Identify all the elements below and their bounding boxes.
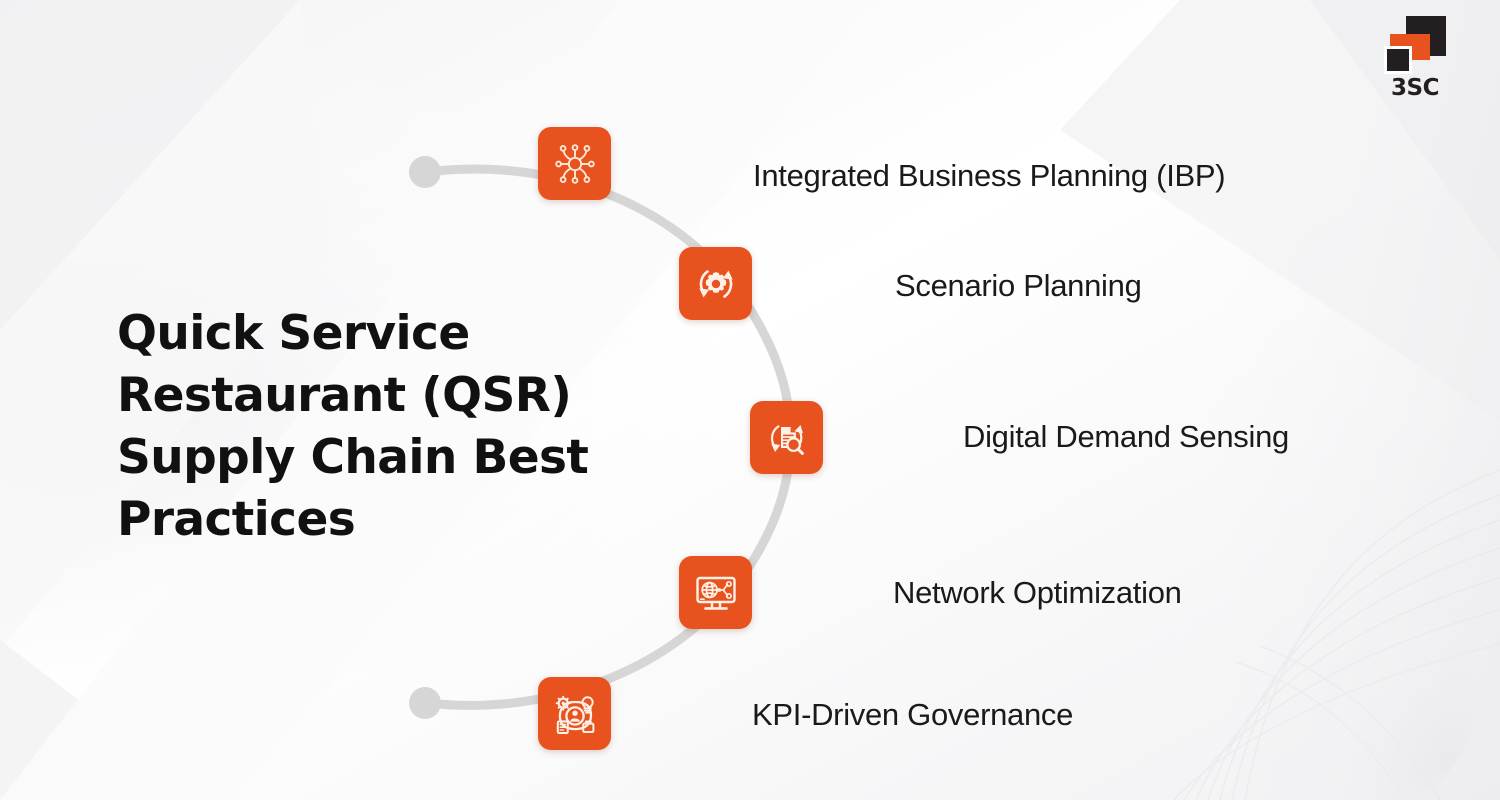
node-tile-network-optimization[interactable] (679, 556, 752, 629)
arc-endpoint-dot-bottom (409, 687, 441, 719)
node-label-digital-demand-sensing: Digital Demand Sensing (963, 419, 1289, 455)
logo-mark-dark-square-bottom (1384, 46, 1412, 74)
network-hub-icon (550, 139, 600, 189)
node-tile-digital-demand-sensing[interactable] (750, 401, 823, 474)
node-tile-integrated-business-planning[interactable] (538, 127, 611, 200)
brand-name: 3SC (1376, 77, 1454, 100)
node-label-integrated-business-planning: Integrated Business Planning (IBP) (753, 158, 1225, 194)
arc-endpoint-dot-top (409, 156, 441, 188)
document-search-icon (762, 413, 812, 463)
logo-mark-icon (1384, 16, 1446, 74)
node-tile-scenario-planning[interactable] (679, 247, 752, 320)
node-label-scenario-planning: Scenario Planning (895, 268, 1142, 304)
page-title: Quick Service Restaurant (QSR) Supply Ch… (117, 303, 657, 551)
node-label-network-optimization: Network Optimization (893, 575, 1182, 611)
node-label-kpi-driven-governance: KPI-Driven Governance (752, 697, 1073, 733)
gear-refresh-icon (691, 259, 741, 309)
node-tile-kpi-driven-governance[interactable] (538, 677, 611, 750)
monitor-globe-network-icon (690, 567, 742, 619)
user-governance-icon (549, 688, 601, 740)
brand-logo: 3SC (1376, 16, 1454, 100)
